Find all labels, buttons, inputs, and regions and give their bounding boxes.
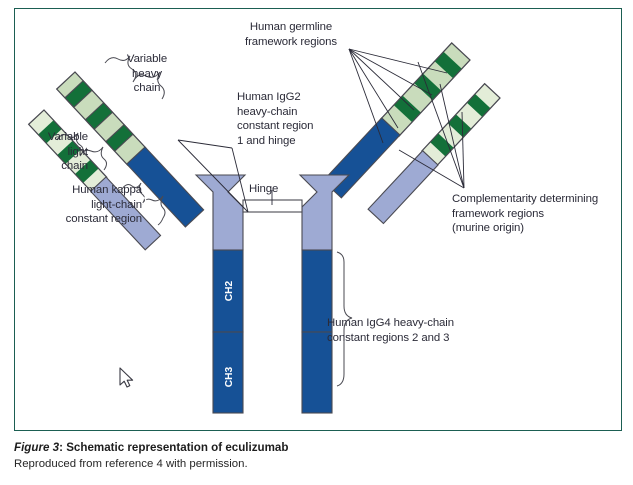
figure-caption: Figure 3: Schematic representation of ec… [14,440,614,472]
ch3-label: CH3 [224,366,235,387]
ch2-label: CH2 [224,280,235,301]
caption-title-text: : Schematic representation of eculizumab [59,441,288,454]
label-human-igg2-ch1-hinge: Human IgG2 heavy-chain constant region 1… [237,90,347,148]
pointer-germline-1 [349,49,447,73]
mouse-cursor-icon [120,368,133,387]
caption-title: Figure 3: Schematic representation of ec… [14,440,614,456]
label-human-kappa-constant: Human kappa light-chain constant region [22,183,142,227]
label-hinge: Hinge [249,182,278,197]
left-hinge-shoulder [196,175,245,250]
pointer-igg2-ch1 [178,140,232,148]
caption-source: Reproduced from reference 4 with permiss… [14,457,614,473]
label-human-germline-framework: Human germline framework regions [232,20,350,49]
right-cl-region [368,151,438,224]
caption-figure-number: Figure 3 [14,441,59,454]
hinge-connector [243,200,302,212]
label-cdr-murine: Complementarity determining framework re… [452,192,630,236]
label-variable-light-chain: Variable light chain [0,130,88,174]
label-human-igg4-constant: Human IgG4 heavy-chain constant regions … [327,316,507,345]
label-variable-heavy-chain: Variable heavy chain [104,52,190,96]
